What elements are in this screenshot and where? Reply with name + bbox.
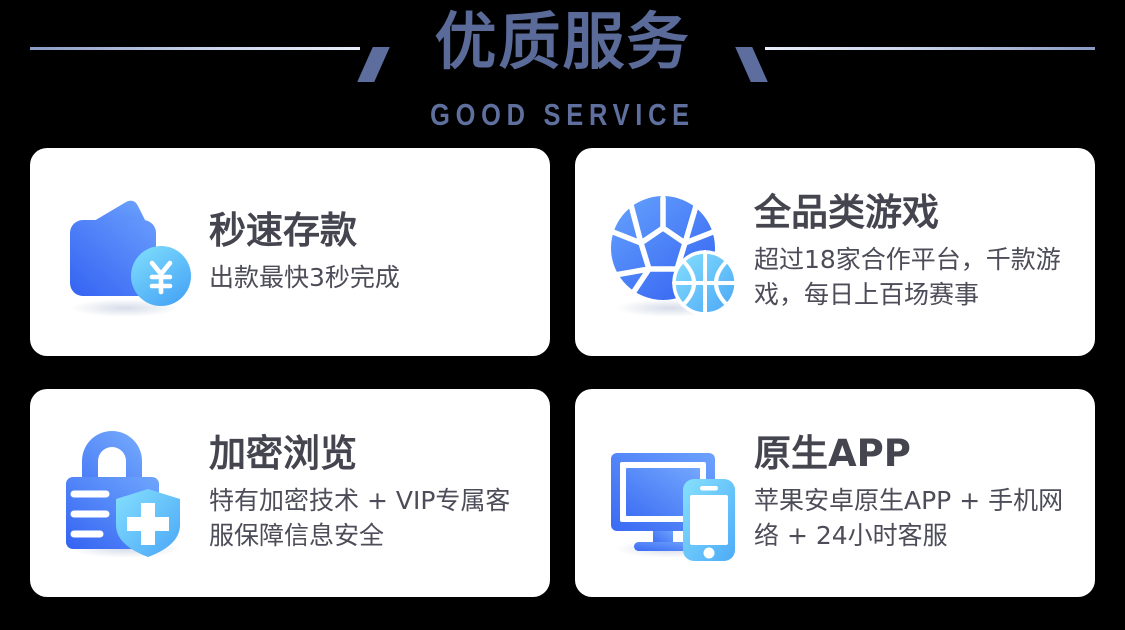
feature-card-native-app-text: 原生APP 苹果安卓原生APP + 手机网络 + 24小时客服 <box>746 432 1077 554</box>
feature-card-title: 原生APP <box>754 432 1077 476</box>
monitor-phone-icon-svg <box>601 421 746 566</box>
feature-card-deposit[interactable]: 秒速存款 出款最快3秒完成 <box>30 148 550 356</box>
feature-card-desc: 出款最快3秒完成 <box>209 260 532 296</box>
page-subtitle: GOOD SERVICE <box>101 97 1024 133</box>
feature-card-encryption-text: 加密浏览 特有加密技术 + VIP专属客服保障信息安全 <box>201 432 532 554</box>
lock-shield-icon <box>56 421 201 566</box>
feature-card-desc: 超过18家合作平台，千款游戏，每日上百场赛事 <box>754 242 1077 313</box>
feature-card-title: 全品类游戏 <box>754 191 1077 235</box>
feature-card-games-text: 全品类游戏 超过18家合作平台，千款游戏，每日上百场赛事 <box>746 191 1077 313</box>
wallet-yen-icon <box>56 180 201 325</box>
page-header: 优质服务 GOOD SERVICE <box>0 0 1125 143</box>
soccer-basketball-icon <box>601 180 746 325</box>
feature-card-title: 秒速存款 <box>209 209 532 253</box>
feature-card-desc: 特有加密技术 + VIP专属客服保障信息安全 <box>209 483 532 554</box>
page-title: 优质服务 <box>0 9 1125 74</box>
monitor-phone-icon <box>601 421 746 566</box>
wallet-yen-icon-svg <box>56 180 201 325</box>
feature-card-native-app[interactable]: 原生APP 苹果安卓原生APP + 手机网络 + 24小时客服 <box>575 389 1095 597</box>
feature-card-title: 加密浏览 <box>209 432 532 476</box>
feature-card-desc: 苹果安卓原生APP + 手机网络 + 24小时客服 <box>754 483 1077 554</box>
feature-card-grid: 秒速存款 出款最快3秒完成 <box>30 148 1095 597</box>
feature-card-games[interactable]: 全品类游戏 超过18家合作平台，千款游戏，每日上百场赛事 <box>575 148 1095 356</box>
soccer-basketball-icon-svg <box>601 180 746 325</box>
feature-card-encryption[interactable]: 加密浏览 特有加密技术 + VIP专属客服保障信息安全 <box>30 389 550 597</box>
feature-card-deposit-text: 秒速存款 出款最快3秒完成 <box>201 209 532 295</box>
lock-shield-icon-svg <box>56 421 201 566</box>
